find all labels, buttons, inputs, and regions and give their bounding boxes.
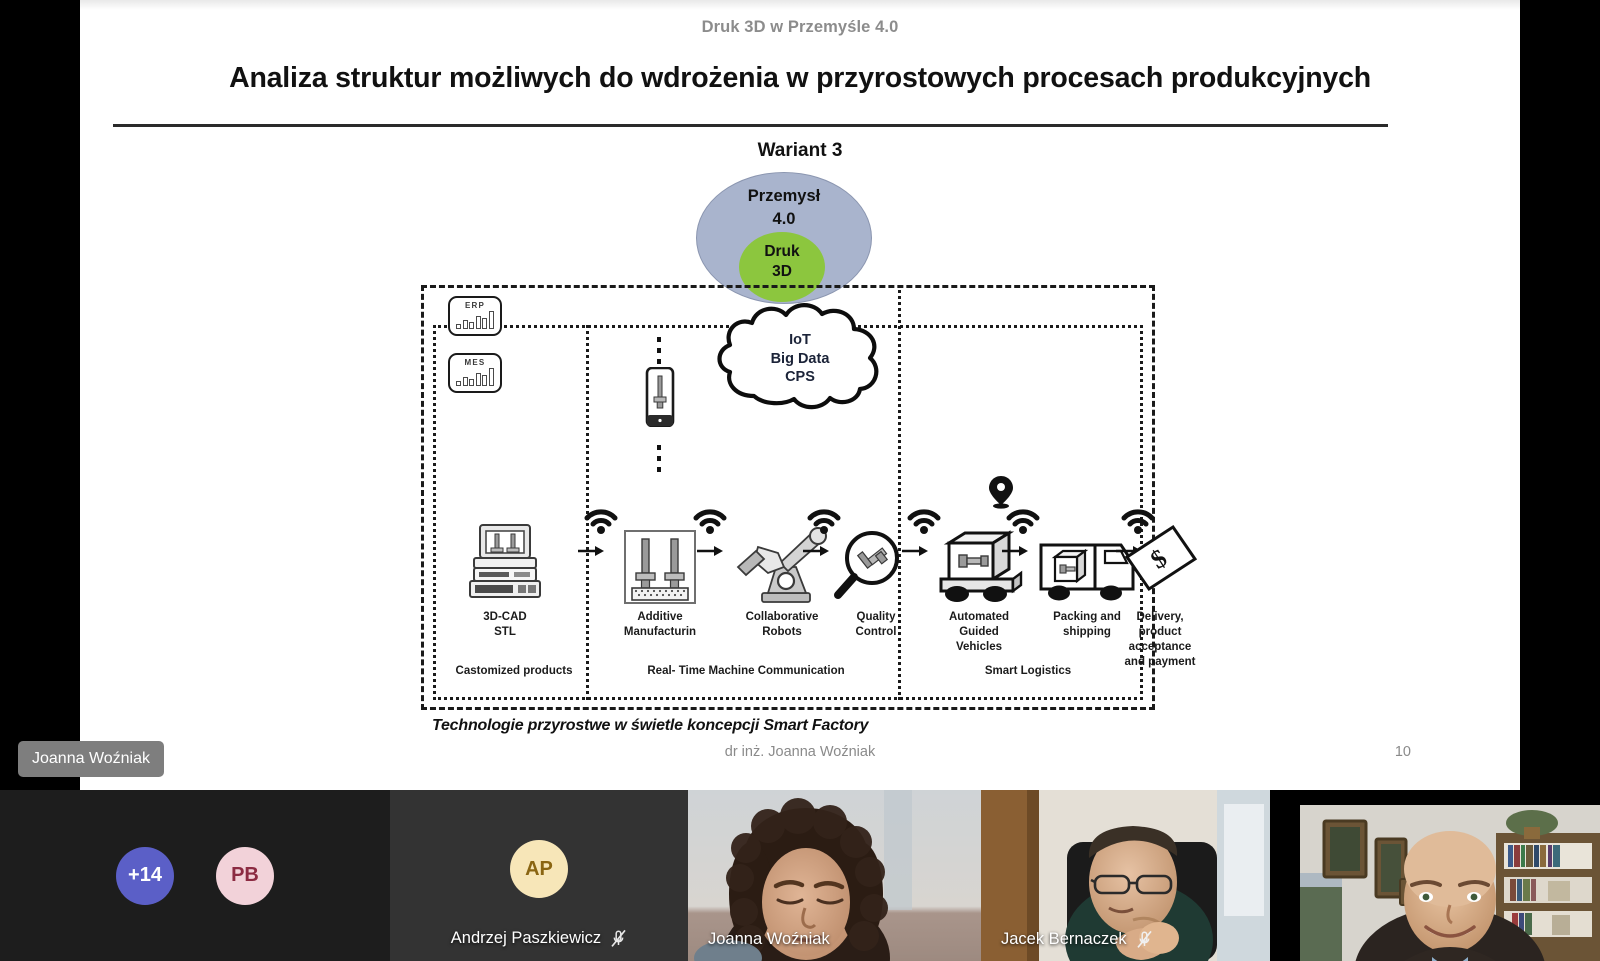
section-label-logistics: Smart Logistics xyxy=(918,665,1138,677)
figure-caption: Technologie przyrostwe w świetle koncepc… xyxy=(432,717,868,735)
participant-name-row: Andrzej Paszkiewicz xyxy=(390,929,688,948)
participant-tile-andrzej-paszkiewicz[interactable]: AP Andrzej Paszkiewicz xyxy=(390,790,688,961)
flow-arrow-5 xyxy=(1002,545,1028,557)
section-label-realtime: Real- Time Machine Communication xyxy=(596,665,896,677)
erp-system-icon: ERP xyxy=(448,296,502,336)
venn-inner-label-line2: 3D xyxy=(739,263,825,281)
participant-tile-joanna-wozniak[interactable]: Joanna Woźniak xyxy=(688,790,981,961)
process-label-additive: Additive Manufacturin xyxy=(606,610,714,640)
participant-filmstrip: +14 PB AP Andrzej Paszkiewicz xyxy=(0,790,1600,961)
process-label-payment: Delivery, product acceptance and payment xyxy=(1100,610,1220,670)
erp-label: ERP xyxy=(450,301,500,310)
participant-name: Jacek Bernaczek xyxy=(1001,930,1127,949)
cloud-label-2: CPS xyxy=(785,369,815,387)
mes-system-icon: MES xyxy=(448,353,502,393)
process-label-3d-cad: 3D-CAD STL xyxy=(451,610,559,640)
process-node-payment: $ Delivery, product acceptance and payme… xyxy=(1100,497,1220,670)
mic-muted-icon xyxy=(1136,930,1153,949)
participant-tile-overflow[interactable]: +14 PB xyxy=(0,790,390,961)
participant-tile-jacek-bernaczek[interactable]: Jacek Bernaczek xyxy=(981,790,1270,961)
slide-page-number: 10 xyxy=(1395,744,1411,760)
wifi-icon-2 xyxy=(693,508,727,534)
flow-arrow-2 xyxy=(697,545,723,557)
avatar-pb[interactable]: PB xyxy=(216,847,274,905)
cloud-label-0: IoT xyxy=(789,332,811,350)
active-presenter-badge: Joanna Woźniak xyxy=(18,741,164,777)
process-label-cobots: Collaborative Robots xyxy=(728,610,836,640)
payment-icon: $ xyxy=(1100,497,1220,605)
process-label-agv: Automated Guided Vehicles xyxy=(925,610,1033,655)
title-divider xyxy=(113,124,1388,127)
mes-bars xyxy=(456,367,494,386)
participant-name-row: Joanna Woźniak xyxy=(688,930,981,949)
overflow-count-avatar[interactable]: +14 xyxy=(116,847,174,905)
avatar-ap: AP xyxy=(510,840,568,898)
erp-bars xyxy=(456,310,494,329)
venn-outer-label-line1: Przemysł xyxy=(697,187,871,206)
slide-title: Analiza struktur możliwych do wdrożenia … xyxy=(122,62,1478,95)
active-presenter-name: Joanna Woźniak xyxy=(32,750,150,768)
mes-label: MES xyxy=(450,358,500,367)
video-feed-5 xyxy=(1300,805,1600,961)
location-pin-icon xyxy=(988,475,1014,509)
process-node-3d-cad: 3D-CAD STL xyxy=(451,497,559,640)
venn-outer-label-line2: 4.0 xyxy=(697,210,871,229)
participant-tile-5[interactable] xyxy=(1270,790,1600,961)
cloud-shape: IoT Big Data CPS xyxy=(710,300,890,415)
variant-label: Wariant 3 xyxy=(80,140,1520,162)
flow-arrow-1 xyxy=(578,545,604,557)
slide-kicker: Druk 3D w Przemyśle 4.0 xyxy=(80,18,1520,37)
cloud-label-1: Big Data xyxy=(771,351,830,369)
desktop-3d-cad-icon xyxy=(451,497,559,605)
shared-slide[interactable]: Druk 3D w Przemyśle 4.0 Analiza struktur… xyxy=(80,0,1520,790)
participant-name: Andrzej Paszkiewicz xyxy=(451,929,601,948)
participant-name-row: Jacek Bernaczek xyxy=(981,930,1270,949)
slide-footer-author: dr inż. Joanna Woźniak xyxy=(80,744,1520,760)
section-label-customized: Castomized products xyxy=(444,665,584,677)
process-label-quality: Quality Control xyxy=(822,610,930,640)
venn-inner-label-line1: Druk xyxy=(739,243,825,261)
mobile-device-icon xyxy=(644,367,676,427)
cloud-labels: IoT Big Data CPS xyxy=(710,300,890,415)
participant-name: Joanna Woźniak xyxy=(708,930,830,949)
mic-muted-icon xyxy=(610,929,627,948)
meeting-screen-share-view: Druk 3D w Przemyśle 4.0 Analiza struktur… xyxy=(0,0,1600,961)
